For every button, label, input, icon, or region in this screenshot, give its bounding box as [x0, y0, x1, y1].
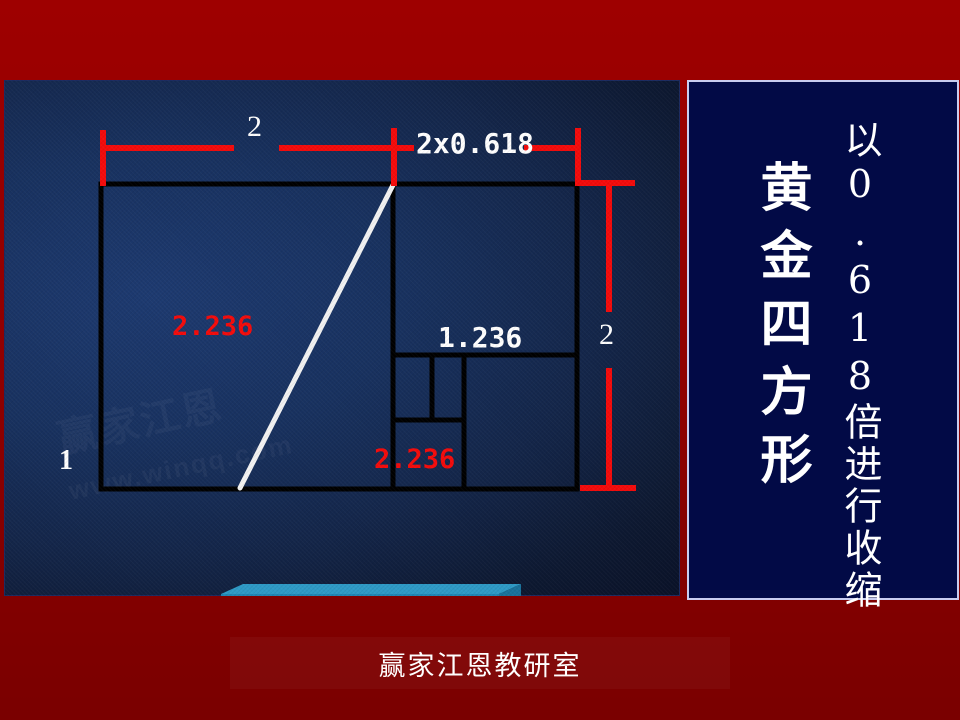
label-bottom-inner: 2.236 — [374, 444, 455, 475]
caption-block: 黄 金 四 方 形 — [221, 584, 521, 596]
side-text-column-left: 黄金四方形 — [744, 160, 819, 500]
footer-label: 赢家江恩教研室 — [230, 637, 730, 689]
diagram-panel: 赢家江恩 www.winqq.com — [4, 80, 680, 596]
diagonal-line — [240, 185, 393, 488]
diagram-vector-layer — [4, 80, 680, 596]
label-diagonal: 2.236 — [172, 311, 253, 342]
label-top-left-dim: 2 — [247, 110, 262, 144]
label-top-right-dim: 2x0.618 — [416, 127, 534, 160]
side-text-columns: 以0.618倍进行收缩 黄金四方形 — [689, 82, 957, 598]
side-text-column-right: 以0.618倍进行收缩 — [833, 120, 888, 612]
label-inner-square: 1.236 — [438, 321, 522, 354]
label-bottom-left: 1 — [59, 445, 73, 477]
footer-plate: 赢家江恩教研室 — [230, 637, 730, 689]
slide-canvas: 赢家江恩 www.winqq.com — [0, 0, 960, 720]
caption-block-front-face: 黄 金 四 方 形 — [221, 594, 499, 596]
label-right-dim: 2 — [599, 318, 614, 352]
side-text-panel: 以0.618倍进行收缩 黄金四方形 — [687, 80, 959, 600]
